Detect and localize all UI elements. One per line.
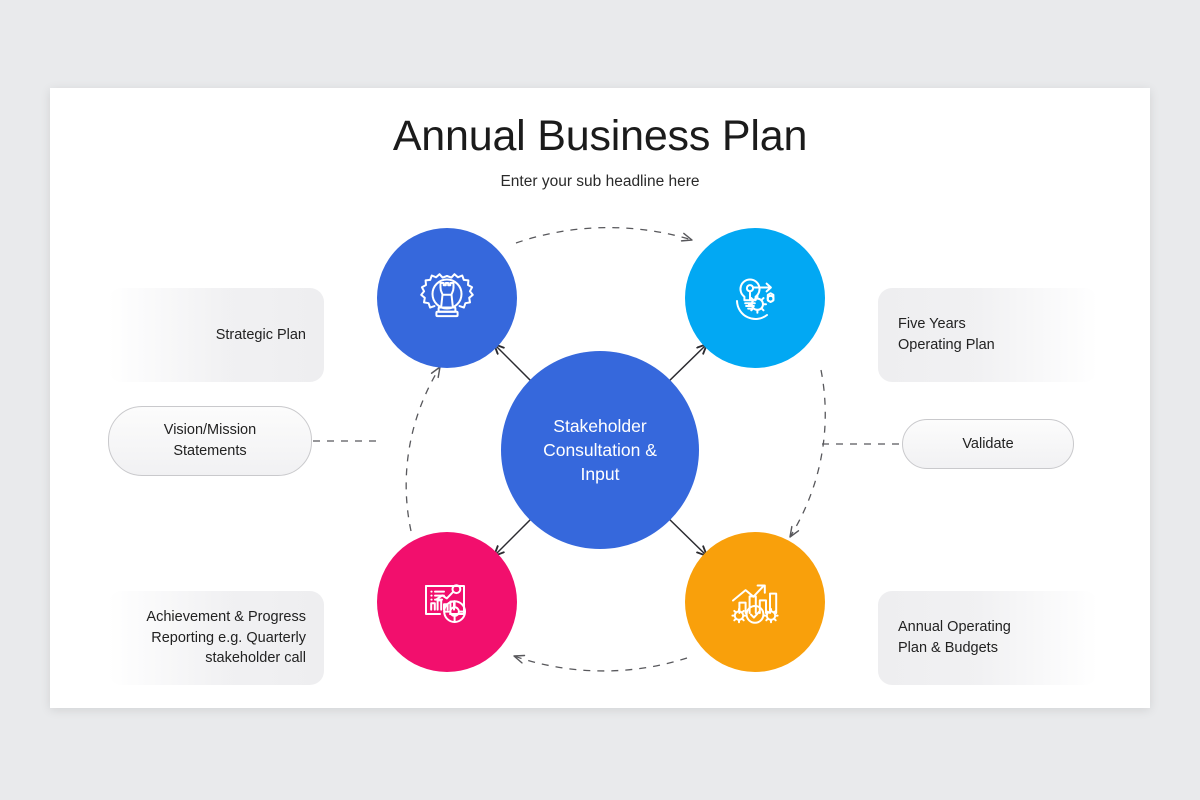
center-hub-line-1: Stakeholder xyxy=(543,414,657,438)
label-five-years-operating-plan-line-2: Operating Plan xyxy=(898,335,995,356)
label-achievement-reporting-line-3: stakeholder call xyxy=(146,648,306,669)
label-five-years-operating-plan[interactable]: Five Years Operating Plan xyxy=(878,288,1098,382)
label-achievement-reporting-text: Achievement & Progress Reporting e.g. Qu… xyxy=(146,607,306,669)
label-annual-operating-plan-budgets-line-1: Annual Operating xyxy=(898,617,1011,638)
label-annual-operating-plan-budgets[interactable]: Annual Operating Plan & Budgets xyxy=(878,591,1098,685)
label-five-years-operating-plan-text: Five Years Operating Plan xyxy=(898,314,995,355)
center-hub-line-3: Input xyxy=(543,462,657,486)
label-achievement-reporting-line-2: Reporting e.g. Quarterly xyxy=(146,628,306,649)
center-hub[interactable]: Stakeholder Consultation & Input xyxy=(501,351,699,549)
node-annual-operating-plan-budgets[interactable] xyxy=(685,532,825,672)
arc-annual-to-achievement xyxy=(514,656,687,671)
arc-achievement-to-strategic xyxy=(406,367,440,531)
label-annual-operating-plan-budgets-text: Annual Operating Plan & Budgets xyxy=(898,617,1011,658)
growth-chart-gears-check-icon xyxy=(724,571,786,633)
label-strategic-plan[interactable]: Strategic Plan xyxy=(108,288,324,382)
label-vision-mission-statements-line-2: Statements xyxy=(164,441,256,462)
report-dashboard-chart-icon xyxy=(416,571,478,633)
arc-fiveyears-to-annual xyxy=(790,370,825,537)
lightbulb-gear-process-icon xyxy=(724,267,786,329)
center-hub-line-2: Consultation & xyxy=(543,438,657,462)
arc-strategic-to-fiveyears xyxy=(516,228,692,243)
label-strategic-plan-text: Strategic Plan xyxy=(216,325,306,346)
label-five-years-operating-plan-line-1: Five Years xyxy=(898,314,995,335)
node-achievement-progress-reporting[interactable] xyxy=(377,532,517,672)
strategy-rook-gear-icon xyxy=(416,267,478,329)
node-strategic-plan[interactable] xyxy=(377,228,517,368)
label-validate[interactable]: Validate xyxy=(902,419,1074,469)
label-vision-mission-statements[interactable]: Vision/Mission Statements xyxy=(108,406,312,476)
label-achievement-reporting[interactable]: Achievement & Progress Reporting e.g. Qu… xyxy=(108,591,324,685)
label-annual-operating-plan-budgets-line-2: Plan & Budgets xyxy=(898,638,1011,659)
label-vision-mission-statements-line-1: Vision/Mission xyxy=(164,420,256,441)
label-strategic-plan-line-1: Strategic Plan xyxy=(216,325,306,346)
label-validate-text: Validate xyxy=(962,434,1013,455)
slide-canvas: Annual Business Plan Enter your sub head… xyxy=(50,88,1150,708)
label-vision-mission-statements-text: Vision/Mission Statements xyxy=(164,420,256,461)
label-achievement-reporting-line-1: Achievement & Progress xyxy=(146,607,306,628)
center-hub-label: Stakeholder Consultation & Input xyxy=(543,414,657,486)
spoke-center-to-annual xyxy=(664,514,707,556)
node-five-years-operating-plan[interactable] xyxy=(685,228,825,368)
